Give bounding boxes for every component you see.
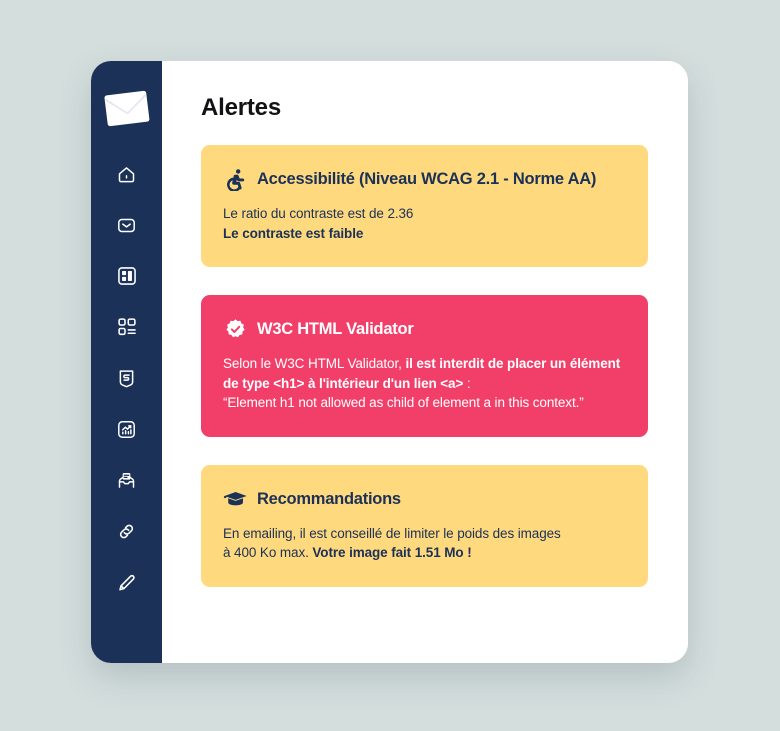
graduation-cap-icon <box>223 487 248 512</box>
sidebar-item-edition[interactable] <box>108 563 146 601</box>
accessible-icon <box>223 167 248 192</box>
alert-card-title: Accessibilité (Niveau WCAG 2.1 - Norme A… <box>257 170 596 189</box>
app-window: Alertes Accessibilité (Niveau WCAG 2.1 -… <box>91 61 688 663</box>
layout-icon <box>116 265 138 287</box>
alert-text-reco-line1: En emailing, il est conseillé de limiter… <box>223 524 624 544</box>
app-root: Alertes Accessibilité (Niveau WCAG 2.1 -… <box>0 0 780 731</box>
alert-text-w3c-intro: Selon le W3C HTML Validator, <box>223 356 405 371</box>
blocks-icon <box>116 316 138 338</box>
alert-card-recommandations[interactable]: Recommandations En emailing, il est cons… <box>201 465 648 587</box>
alert-card-header: W3C HTML Validator <box>223 317 624 342</box>
alert-text-image-weight: Votre image fait 1.51 Mo ! <box>312 545 471 560</box>
alert-card-w3c[interactable]: W3C HTML Validator Selon le W3C HTML Val… <box>201 295 648 437</box>
link-icon <box>116 521 137 542</box>
page-title: Alertes <box>201 94 648 122</box>
alert-text-reco-line2: à 400 Ko max. <box>223 545 312 560</box>
html5-icon <box>116 368 137 389</box>
alert-card-body: Le ratio du contraste est de 2.36 Le con… <box>223 204 624 243</box>
mail-box-icon <box>116 215 137 236</box>
alert-card-accessibility[interactable]: Accessibilité (Niveau WCAG 2.1 - Norme A… <box>201 145 648 267</box>
inbox-icon <box>116 470 137 491</box>
sidebar-item-liens[interactable] <box>108 512 146 550</box>
alert-text-w3c-quote: “Element h1 not allowed as child of elem… <box>223 393 624 413</box>
home-icon <box>116 164 137 185</box>
alert-text-w3c-colon: : <box>463 376 470 391</box>
alerts-list: Accessibilité (Niveau WCAG 2.1 - Norme A… <box>201 145 648 587</box>
alert-card-body: Selon le W3C HTML Validator, il est inte… <box>223 354 624 413</box>
alert-card-title: W3C HTML Validator <box>257 320 414 339</box>
sidebar-nav <box>108 155 146 601</box>
sidebar-item-inbox[interactable] <box>108 461 146 499</box>
sidebar <box>91 61 162 663</box>
alert-card-title: Recommandations <box>257 490 401 509</box>
alert-text-ratio: Le ratio du contraste est de 2.36 <box>223 204 624 224</box>
alert-card-body: En emailing, il est conseillé de limiter… <box>223 524 624 563</box>
sidebar-item-blocs[interactable] <box>108 308 146 346</box>
sidebar-item-home[interactable] <box>108 155 146 193</box>
sidebar-item-campagnes[interactable] <box>108 206 146 244</box>
verified-badge-icon <box>223 317 248 342</box>
main-content: Alertes Accessibilité (Niveau WCAG 2.1 -… <box>162 61 688 663</box>
envelope-logo-icon[interactable] <box>99 85 155 133</box>
sidebar-item-modeles[interactable] <box>108 257 146 295</box>
alert-card-header: Recommandations <box>223 487 624 512</box>
sidebar-item-html[interactable] <box>108 359 146 397</box>
chart-icon <box>116 419 137 440</box>
pen-icon <box>116 572 137 593</box>
sidebar-item-statistiques[interactable] <box>108 410 146 448</box>
alert-card-header: Accessibilité (Niveau WCAG 2.1 - Norme A… <box>223 167 624 192</box>
alert-text-contrast-low: Le contraste est faible <box>223 224 624 244</box>
